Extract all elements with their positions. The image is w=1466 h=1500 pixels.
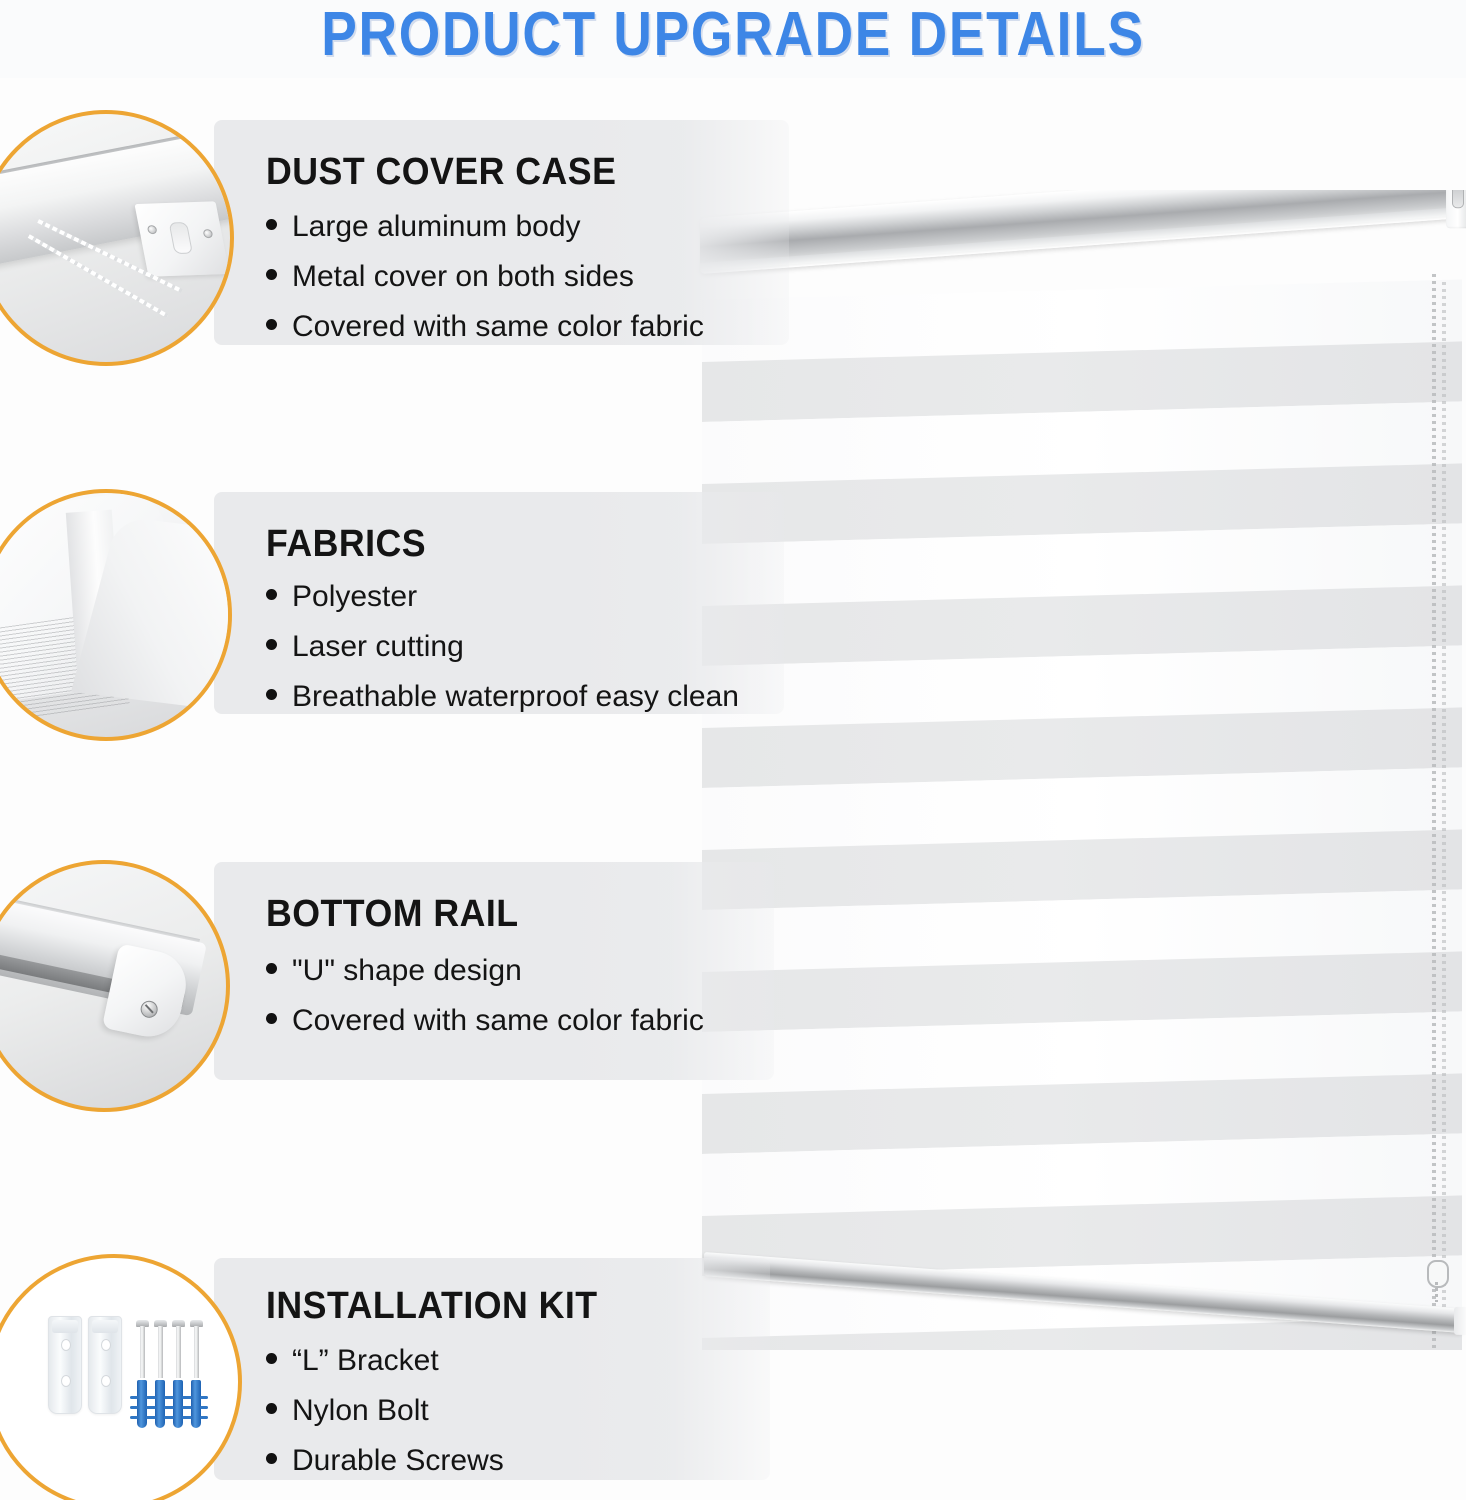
bullet-text: "U" shape design (292, 946, 522, 996)
dust-cover-case-photo (0, 114, 230, 362)
bullet-dot-icon (266, 963, 277, 974)
bracket-tab (92, 1320, 118, 1333)
anchor-fin (148, 1396, 156, 1399)
anchor-fin (184, 1416, 192, 1419)
anchor-fin (166, 1406, 174, 1409)
case-end-cap (134, 201, 229, 276)
list-item: “L” Bracket (266, 1336, 504, 1386)
bracket-hole (101, 1339, 111, 1351)
anchor-fin (184, 1406, 192, 1409)
list-item: Breathable waterproof easy clean (266, 672, 739, 722)
anchor-fin (200, 1406, 208, 1409)
screw-icon (140, 1326, 145, 1378)
photo-circle-dust-cover-case (0, 110, 234, 366)
bullet-dot-icon (266, 219, 277, 230)
case-slot (169, 222, 193, 254)
kit-hardware-group (48, 1316, 198, 1416)
bullet-dot-icon (266, 319, 277, 330)
bead-chain (1432, 274, 1436, 1350)
bullet-text: Nylon Bolt (292, 1386, 429, 1436)
anchor-fin (200, 1396, 208, 1399)
list-item: Laser cutting (266, 622, 739, 672)
list-item: Nylon Bolt (266, 1386, 504, 1436)
tensioner-ring (1427, 1260, 1449, 1288)
feature-bullets-dust-cover-case: Large aluminum body Metal cover on both … (266, 202, 704, 352)
photo-circle-installation-kit (0, 1254, 242, 1500)
list-item: Covered with same color fabric (266, 302, 704, 352)
l-bracket-icon (88, 1316, 122, 1414)
bullet-text: “L” Bracket (292, 1336, 439, 1386)
nylon-bolt-icon (137, 1380, 147, 1428)
title-band: PRODUCT UPGRADE DETAILS (0, 0, 1466, 78)
feature-title-fabrics: FABRICS (266, 522, 426, 566)
chain-tensioner-weight (1427, 1260, 1445, 1302)
nylon-bolt-icon (155, 1380, 165, 1428)
headrail-dust-cover (700, 190, 1462, 274)
list-item: Polyester (266, 572, 739, 622)
product-upgrade-infographic: PRODUCT UPGRADE DETAILS (0, 0, 1466, 1500)
bead-chain-return (1442, 282, 1446, 1322)
anchor-fin (166, 1396, 174, 1399)
screw-icon (176, 1326, 181, 1378)
bullet-dot-icon (266, 269, 277, 280)
bullet-dot-icon (266, 1453, 277, 1464)
installation-kit-photo (0, 1258, 238, 1500)
feature-bullets-bottom-rail: "U" shape design Covered with same color… (266, 946, 704, 1046)
list-item: Large aluminum body (266, 202, 704, 252)
bullet-text: Polyester (292, 572, 417, 622)
feature-bullets-fabrics: Polyester Laser cutting Breathable water… (266, 572, 739, 722)
feature-title-dust-cover-case: DUST COVER CASE (266, 150, 616, 194)
page-title: PRODUCT UPGRADE DETAILS (103, 0, 1364, 70)
anchor-fin (130, 1406, 138, 1409)
bracket-hole (61, 1339, 71, 1351)
bullet-dot-icon (266, 639, 277, 650)
feature-title-bottom-rail: BOTTOM RAIL (266, 892, 519, 936)
screw-icon (158, 1326, 163, 1378)
anchor-fin (200, 1416, 208, 1419)
photo-circle-fabrics (0, 489, 232, 741)
photo-circle-bottom-rail (0, 860, 230, 1112)
screw-icon (147, 225, 158, 234)
bullet-text: Covered with same color fabric (292, 996, 704, 1046)
l-bracket-icon (48, 1316, 82, 1414)
feature-bullets-installation-kit: “L” Bracket Nylon Bolt Durable Screws (266, 1336, 504, 1486)
bullet-dot-icon (266, 589, 277, 600)
bullet-text: Breathable waterproof easy clean (292, 672, 739, 722)
tensioner-chain-tail (1435, 1282, 1438, 1302)
screw-icon (203, 229, 214, 238)
anchor-fin (148, 1406, 156, 1409)
list-item: Metal cover on both sides (266, 252, 704, 302)
bullet-text: Large aluminum body (292, 202, 581, 252)
bullet-dot-icon (266, 1403, 277, 1414)
blind-fabric (702, 300, 1462, 1350)
fabrics-photo (0, 493, 228, 737)
bracket-hole (101, 1375, 111, 1387)
chain-slot (1452, 190, 1464, 208)
list-item: Covered with same color fabric (266, 996, 704, 1046)
bottom-rail-end-cap (1454, 1307, 1466, 1335)
headrail-lip (700, 207, 1462, 271)
bullet-text: Durable Screws (292, 1436, 504, 1486)
bullet-dot-icon (266, 689, 277, 700)
screw-icon (139, 999, 159, 1019)
product-image-zebra-roller-blind (690, 190, 1466, 1350)
list-item: Durable Screws (266, 1436, 504, 1486)
bracket-hole (61, 1375, 71, 1387)
bullet-dot-icon (266, 1353, 277, 1364)
bullet-text: Covered with same color fabric (292, 302, 704, 352)
anchor-fin (130, 1396, 138, 1399)
anchor-fin (184, 1396, 192, 1399)
headrail-end-cap (1446, 190, 1466, 228)
list-item: "U" shape design (266, 946, 704, 996)
bullet-text: Laser cutting (292, 622, 464, 672)
bullet-dot-icon (266, 1013, 277, 1024)
feature-title-installation-kit: INSTALLATION KIT (266, 1284, 598, 1328)
bottom-rail-photo (0, 864, 226, 1108)
screw-icon (194, 1326, 199, 1378)
nylon-bolt-icon (173, 1380, 183, 1428)
anchor-fin (130, 1416, 138, 1419)
bullet-text: Metal cover on both sides (292, 252, 634, 302)
bracket-tab (52, 1320, 78, 1333)
nylon-bolt-icon (191, 1380, 201, 1428)
anchor-fin (148, 1416, 156, 1419)
anchor-fin (166, 1416, 174, 1419)
